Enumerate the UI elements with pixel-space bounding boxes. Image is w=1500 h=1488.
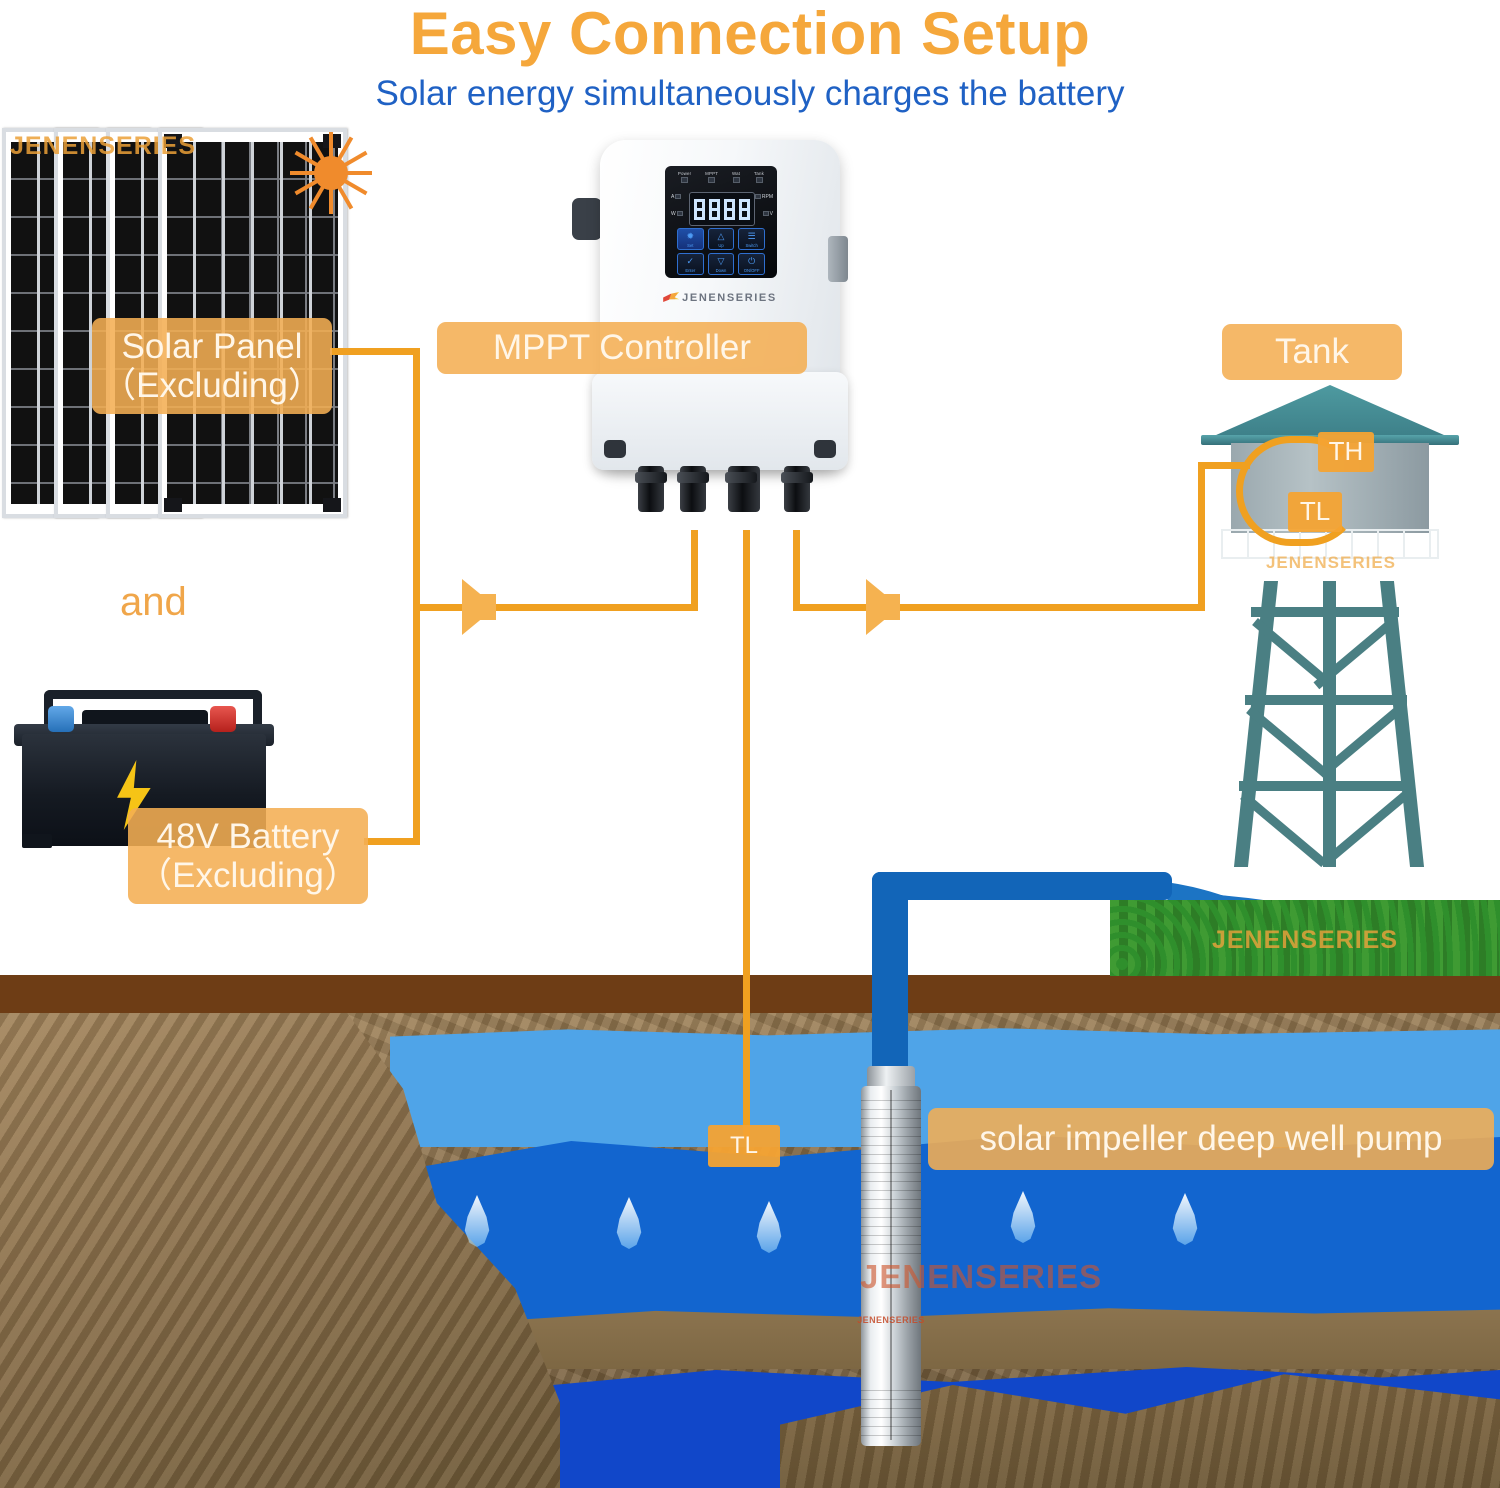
pump-brand: JENENSERIES bbox=[855, 1315, 927, 1325]
lawn-watermark: JENENSERIES bbox=[1110, 926, 1500, 955]
lawn-grass: JENENSERIES bbox=[1110, 900, 1500, 976]
label-tank: Tank bbox=[1222, 324, 1402, 380]
wire-tank-run-2 bbox=[900, 604, 1205, 611]
triangle-down-icon: ▽ bbox=[709, 256, 734, 266]
indicator-watts: W bbox=[671, 211, 684, 217]
water-pipe-horizontal bbox=[872, 872, 1172, 900]
wire-tank-run-1 bbox=[793, 604, 867, 611]
controller-mount-bracket bbox=[572, 198, 602, 240]
indicator-amps: A bbox=[671, 194, 682, 200]
check-icon: ✓ bbox=[678, 256, 703, 266]
indicator-volts: V bbox=[762, 211, 773, 217]
button-enter[interactable]: ✓ Enter bbox=[677, 253, 704, 275]
led-mppt: MPPT bbox=[705, 171, 718, 187]
controller-front-panel: Power MPPT Wat Tank A W RPM V bbox=[665, 166, 777, 278]
wire-junction-to-arrow bbox=[413, 604, 463, 611]
indicator-rpm: RPM bbox=[754, 194, 773, 200]
label-solar-pump: solar impeller deep well pump bbox=[928, 1108, 1494, 1170]
label-solar-panel-line2: （Excluding） bbox=[101, 366, 323, 405]
led-wat: Wat bbox=[732, 171, 740, 187]
wire-arrow-run bbox=[496, 604, 698, 611]
tank-watermark: JENENSERIES bbox=[1231, 553, 1431, 573]
button-set[interactable]: ✹ Set bbox=[677, 228, 704, 250]
arrow-to-tank bbox=[866, 579, 900, 635]
button-switch[interactable]: ☰ Switch bbox=[738, 228, 765, 250]
cable-gland-4 bbox=[784, 466, 810, 512]
label-tank-tl-sensor: TL bbox=[1288, 492, 1342, 532]
wire-battery-out bbox=[364, 838, 420, 845]
button-down[interactable]: ▽ Down bbox=[708, 253, 735, 275]
set-icon: ✹ bbox=[678, 231, 703, 241]
page-subtitle: Solar energy simultaneously charges the … bbox=[0, 72, 1500, 116]
label-48v-battery: 48V Battery （Excluding） bbox=[128, 808, 368, 904]
cable-gland-2 bbox=[680, 466, 706, 512]
status-led-row: Power MPPT Wat Tank bbox=[671, 171, 771, 187]
power-icon: ⏻ bbox=[739, 256, 764, 266]
menu-icon: ☰ bbox=[739, 231, 764, 241]
wire-to-gland-1 bbox=[691, 530, 698, 610]
battery-negative-terminal bbox=[48, 706, 74, 732]
led-tank: Tank bbox=[754, 171, 764, 187]
triangle-up-icon: △ bbox=[709, 231, 734, 241]
sun-icon bbox=[288, 130, 374, 216]
cable-gland-1 bbox=[638, 466, 664, 512]
brand-logo-icon bbox=[663, 292, 679, 302]
controller-lower-housing bbox=[592, 372, 848, 470]
tank-roof bbox=[1207, 385, 1453, 439]
arrow-to-controller bbox=[462, 579, 496, 635]
label-mppt-controller: MPPT Controller bbox=[437, 322, 807, 374]
controller-side-latch[interactable] bbox=[828, 236, 848, 282]
cable-gland-3 bbox=[728, 466, 760, 512]
controller-brand: JENENSERIES bbox=[560, 292, 880, 304]
led-power: Power bbox=[678, 171, 691, 187]
button-on-off[interactable]: ⏻ ON/OFF bbox=[738, 253, 765, 275]
label-solar-panel-line1: Solar Panel bbox=[122, 327, 303, 366]
wire-to-gland-4 bbox=[793, 530, 800, 604]
label-well-tl-sensor: TL bbox=[708, 1125, 780, 1167]
battery-positive-terminal bbox=[210, 706, 236, 732]
underground-well-scene bbox=[0, 1013, 1500, 1488]
label-solar-panel: Solar Panel （Excluding） bbox=[92, 318, 332, 414]
wire-battery-up bbox=[413, 610, 420, 845]
label-tank-th-sensor: TH bbox=[1318, 432, 1374, 472]
controller-keypad[interactable]: ✹ Set △ Up ☰ Switch ✓ Enter ▽ Down ⏻ ON/… bbox=[677, 228, 765, 275]
wire-well-sensor bbox=[743, 530, 750, 1140]
label-battery-line2: （Excluding） bbox=[137, 856, 359, 895]
page-title: Easy Connection Setup bbox=[0, 2, 1500, 66]
wire-panel-out bbox=[330, 348, 420, 355]
button-up[interactable]: △ Up bbox=[708, 228, 735, 250]
label-and: and bbox=[120, 580, 187, 625]
wire-tank-up bbox=[1198, 462, 1205, 610]
diagram-canvas: Easy Connection Setup Solar energy simul… bbox=[0, 0, 1500, 1488]
wire-panel-down bbox=[413, 348, 420, 610]
submersible-pump: JENENSERIES bbox=[855, 1060, 927, 1460]
seven-segment-display bbox=[689, 192, 755, 226]
label-battery-line1: 48V Battery bbox=[157, 817, 340, 856]
